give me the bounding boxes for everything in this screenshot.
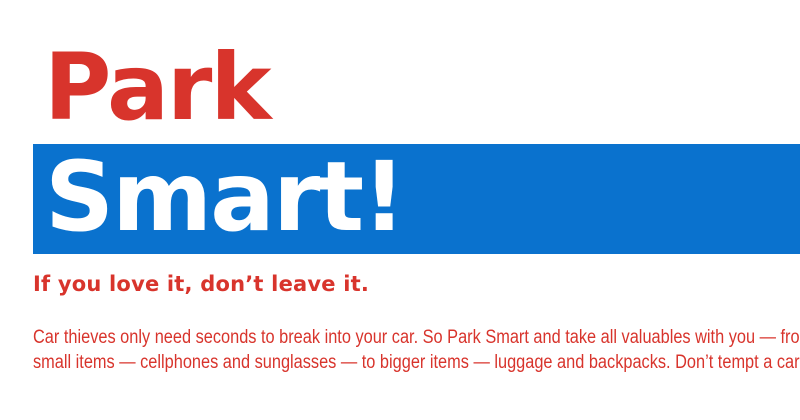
body-copy-line-2: small items — cellphones and sunglasses …	[33, 350, 774, 375]
headline-line-1: Park	[44, 42, 270, 134]
body-copy-line-1: Car thieves only need seconds to break i…	[33, 325, 774, 350]
park-smart-poster: Park Smart! If you love it, don’t leave …	[0, 0, 800, 420]
body-copy: Car thieves only need seconds to break i…	[33, 325, 774, 375]
headline-line-2: Smart!	[45, 142, 404, 252]
tagline: If you love it, don’t leave it.	[33, 272, 369, 296]
headline-blue-band: Smart!	[33, 144, 800, 254]
